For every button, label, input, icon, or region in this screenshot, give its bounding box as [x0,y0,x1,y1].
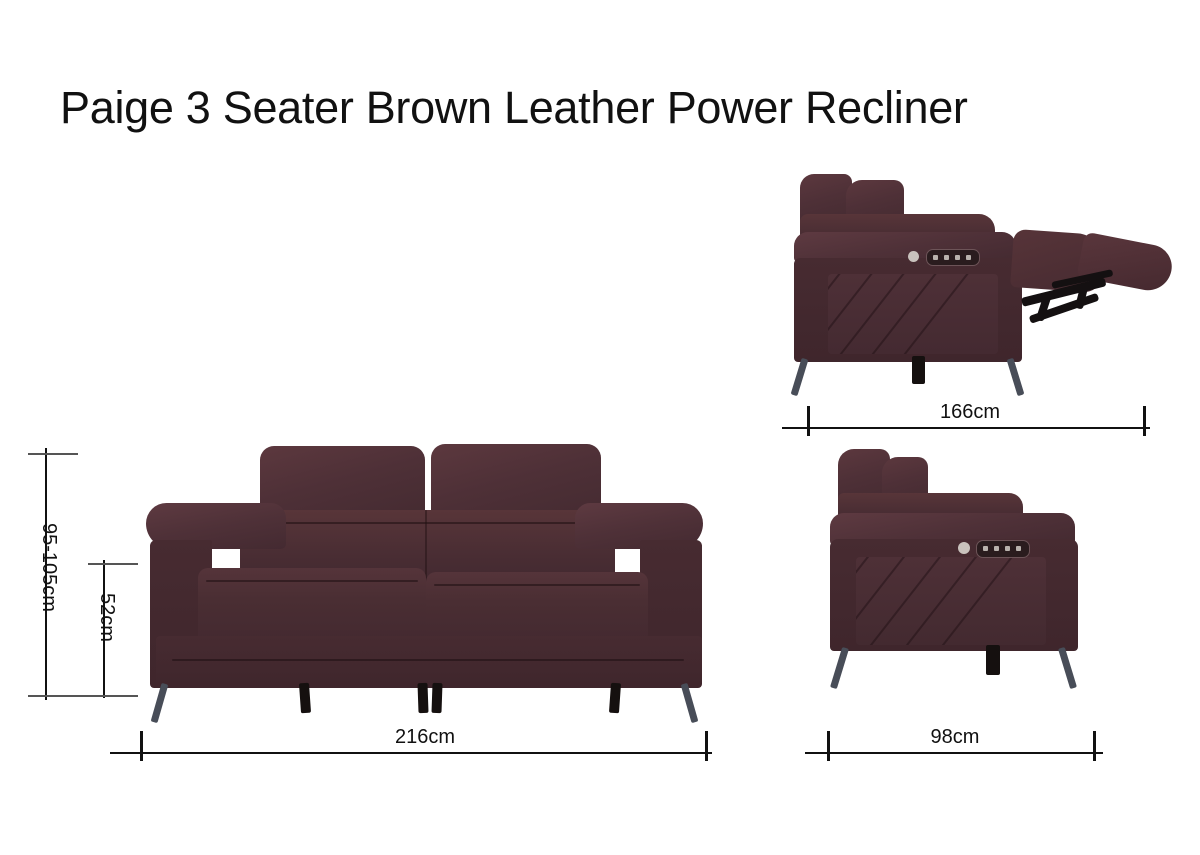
dimension-label-seat-height: 52cm [95,593,118,642]
dimension-label-depth-reclined: 166cm [885,401,1055,424]
recliner-control-pad[interactable] [976,540,1030,558]
side-reclined-sofa-illustration [790,170,1170,390]
control-button[interactable] [1005,546,1010,551]
product-dimension-diagram: Paige 3 Seater Brown Leather Power Recli… [0,0,1200,855]
dimension-label-width: 216cm [340,726,510,749]
control-button[interactable] [1016,546,1021,551]
leg-front-right [681,683,699,723]
dimension-tick-top [88,563,138,565]
front-base-panel [156,636,702,688]
page-title: Paige 3 Seater Brown Leather Power Recli… [60,82,968,134]
leg-centre-left [299,683,311,714]
base-seam [172,659,684,661]
dimension-label-height: 95-105cm [37,523,60,612]
control-button[interactable] [983,546,988,551]
power-button-icon[interactable] [908,251,919,262]
dimension-tick-left [807,406,810,436]
side-upright-sofa-illustration [806,445,1116,695]
leg-centre-inner-left [417,683,428,713]
quilted-side-panel-upright [856,557,1046,645]
control-button[interactable] [933,255,938,260]
seat-seam-right [434,584,640,586]
dimension-tick-right [1093,731,1096,761]
dimension-tick-top [28,453,78,455]
control-button[interactable] [994,546,999,551]
quilt-seam [838,274,920,354]
quilt-seam [867,557,958,645]
quilt-seam [828,274,888,354]
quilt-seam [902,274,984,354]
leg-centre-inner-right [431,683,442,713]
recliner-control-pad[interactable] [926,249,980,266]
control-button[interactable] [955,255,960,260]
front-view-sofa-illustration [120,440,720,710]
dimension-tick-left [140,731,143,761]
quilt-seam [856,557,922,645]
dimension-line [110,752,712,754]
leg-front-left [151,683,169,723]
backrest-seam-top [255,522,605,524]
dimension-line [805,752,1103,754]
quilted-side-panel-reclined [828,274,998,354]
control-button[interactable] [944,255,949,260]
quilt-seam [903,557,994,645]
leg-side-upright-right [1058,647,1077,689]
leg-side-reclined-centre [912,356,925,384]
power-button-icon[interactable] [958,542,970,554]
dimension-line [782,427,1150,429]
dimension-tick-right [705,731,708,761]
leg-side-upright-centre [986,645,1000,675]
control-button[interactable] [966,255,971,260]
leg-centre-right [609,683,621,714]
quilt-seam [828,274,856,354]
quilt-seam [870,274,952,354]
seat-seam-left [206,580,418,582]
leg-side-reclined-left [791,358,809,396]
leg-side-reclined-right [1007,358,1025,396]
dimension-label-depth-closed: 98cm [875,726,1035,749]
quilt-seam [939,557,1030,645]
dimension-tick-right [1143,406,1146,436]
leg-side-upright-left [830,647,849,689]
dimension-tick-left [827,731,830,761]
dimension-tick-bottom [88,695,138,697]
